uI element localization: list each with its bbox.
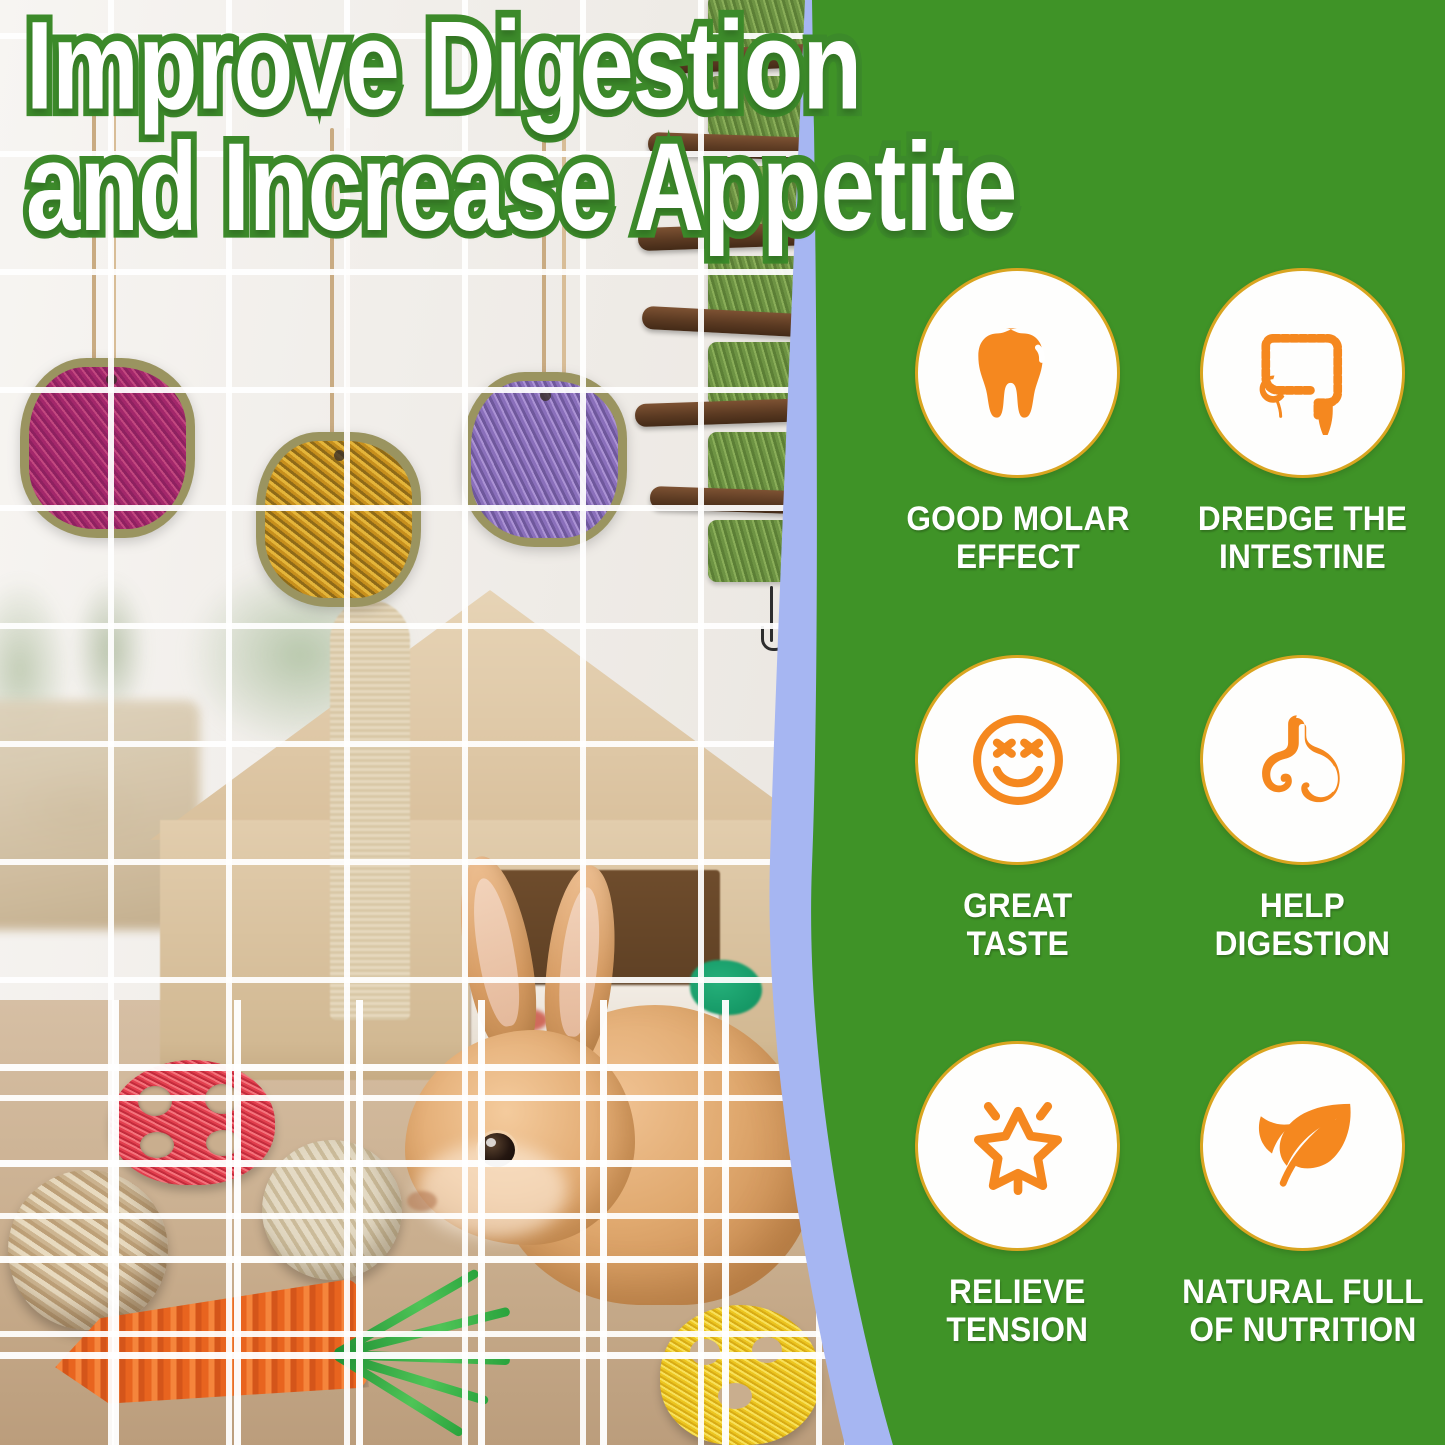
benefit-great-taste: GREAT TASTE — [875, 655, 1160, 1042]
rattan-ball — [8, 1170, 168, 1330]
rabbit-eye — [479, 1133, 515, 1167]
benefit-dredge-the-intestine: DREDGE THE INTESTINE — [1160, 268, 1445, 655]
benefit-label: RELIEVE TENSION — [947, 1273, 1089, 1349]
flower-treat-lavender — [462, 372, 627, 547]
benefits-grid: GOOD MOLAR EFFECT DREDGE THE INTESTINE — [875, 268, 1445, 1428]
benefit-label: DREDGE THE INTESTINE — [1198, 500, 1407, 576]
infographic-page: GOOD MOLAR EFFECT DREDGE THE INTESTINE — [0, 0, 1445, 1445]
benefit-good-molar-effect: GOOD MOLAR EFFECT — [875, 268, 1160, 655]
headline: Improve Digestion and Increase Appetite — [26, 6, 1038, 249]
intestine-icon — [1241, 311, 1365, 435]
corn-husk-ball — [262, 1140, 402, 1280]
benefit-icon-bubble — [1200, 268, 1405, 478]
benefit-label: GOOD MOLAR EFFECT — [906, 500, 1129, 576]
rabbit-nose — [407, 1191, 437, 1211]
yellow-loofah-slice — [660, 1305, 820, 1445]
rabbit — [395, 855, 815, 1325]
star-icon — [956, 1084, 1080, 1208]
benefit-label: NATURAL FULL OF NUTRITION — [1182, 1273, 1424, 1349]
benefit-natural-full-of-nutrition: NATURAL FULL OF NUTRITION — [1160, 1041, 1445, 1428]
benefit-icon-bubble — [915, 1041, 1120, 1251]
leaf-icon — [1241, 1084, 1365, 1208]
stomach-icon — [1241, 698, 1365, 822]
benefit-icon-bubble — [915, 268, 1120, 478]
headline-line-1: Improve Digestion — [26, 6, 1038, 127]
benefit-help-digestion: HELP DIGESTION — [1160, 655, 1445, 1042]
tooth-icon — [956, 311, 1080, 435]
benefit-icon-bubble — [1200, 1041, 1405, 1251]
benefit-icon-bubble — [1200, 655, 1405, 865]
smiley-icon — [956, 698, 1080, 822]
benefit-relieve-tension: RELIEVE TENSION — [875, 1041, 1160, 1428]
benefit-icon-bubble — [915, 655, 1120, 865]
benefit-label: HELP DIGESTION — [1215, 887, 1391, 963]
flower-treat-rose — [20, 358, 195, 538]
benefit-label: GREAT TASTE — [963, 887, 1072, 963]
headline-line-2: and Increase Appetite — [26, 127, 1038, 248]
metal-hook — [770, 586, 773, 642]
red-loofah-slice — [110, 1060, 275, 1185]
flower-treat-marigold — [256, 432, 421, 607]
